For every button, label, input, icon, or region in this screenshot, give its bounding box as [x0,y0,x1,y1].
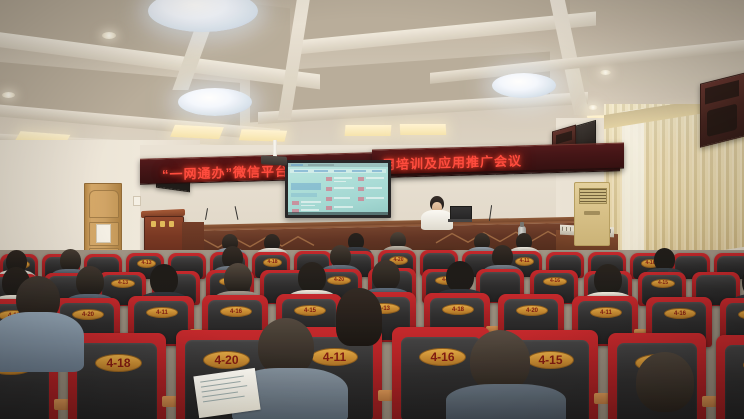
attendee-head [298,262,326,293]
panel-light-2 [239,129,287,142]
seat-number-plaque: 4-20 [327,276,351,285]
panel-light-3 [345,125,392,136]
ac-display [584,211,600,215]
seat-number-plaque: 4-13 [111,279,135,288]
dome-light-2 [178,88,252,116]
attendee-head-right-1 [470,330,530,392]
door-sign [96,224,111,243]
seat-number-plaque: 4-20 [516,305,548,316]
auditorium-seat[interactable]: 4-18 [716,335,744,419]
downlight-1 [102,32,116,39]
seat-number-plaque: 4-11 [515,257,534,266]
curtain-sheer-panel [622,108,644,269]
seat-number-plaque: 4-18 [263,258,282,267]
seat-number-plaque: 4-13 [137,259,156,268]
attendee-head [224,263,252,294]
seat-number-plaque: 4-16 [419,348,466,366]
panel-light-1 [170,125,224,140]
attendee-head [594,264,622,295]
ac-vent [579,188,607,204]
wall-speaker-right [700,72,744,147]
seat-number-plaque: 4-20 [72,309,104,320]
downlight-5 [600,70,611,75]
seat-number-plaque: 4-15 [294,305,326,316]
attendee-body-right-1 [446,384,566,419]
attendee-head [446,261,474,292]
seat-number-plaque: 4-15 [527,351,574,369]
podium-plate-char-3 [169,221,174,227]
wall-switch[interactable] [133,196,141,206]
downlight-6 [588,105,598,110]
attendee-hair-center [336,288,382,346]
podium-plate-char-2 [160,221,165,227]
handout-paper-1 [193,368,260,418]
led-banner-right-text: 用培训及应用推广会议 [382,150,522,173]
air-conditioner [574,182,610,246]
fire-extinguisher-valve [520,222,524,227]
seat-number-plaque: 4-18 [95,354,142,372]
attendee-head [76,266,104,297]
seat-back-panel [725,345,744,419]
presenter-laptop-base [448,219,472,222]
attendee-body-left-1 [0,312,84,372]
attendee-head [372,260,400,291]
dome-light-3 [492,73,556,98]
ceiling-projector [261,155,287,165]
seat-number-plaque: 4-18 [442,304,474,315]
seat-number-plaque: 4-15 [651,279,675,288]
attendee-head-right-2 [636,352,694,412]
projection-screen[interactable] [288,163,388,215]
attendee-head [150,264,178,295]
seat-number-plaque: 4-16 [543,277,567,286]
door-panel-top [89,190,119,218]
screen-taskbar [288,212,388,215]
seat-number-plaque: 4-11 [311,348,358,366]
seat-number-plaque: 4-11 [590,307,622,318]
conference-room-photo: “一网通办”微信平台 用培训及应用推广会议 [0,0,744,419]
downlight-2 [2,92,15,98]
seat-number-plaque: 4-11 [146,307,178,318]
seat-number-plaque: 4-20 [203,351,250,369]
seat-number-plaque: 4-16 [220,306,252,317]
podium-plate-char-1 [151,221,156,227]
seat-number-plaque: 4-16 [664,308,696,319]
panel-light-4 [400,124,447,135]
